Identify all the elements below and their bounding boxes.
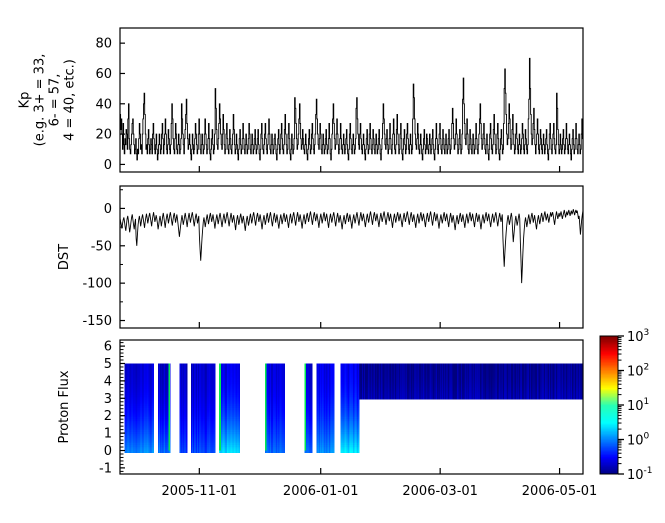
kp-series xyxy=(120,58,583,160)
proton-flux-segment xyxy=(158,363,171,453)
y-tick-label: 40 xyxy=(95,97,112,112)
proton-flux-segment xyxy=(265,363,285,453)
proton-flux-cell xyxy=(152,451,154,454)
y-tick-label: -50 xyxy=(91,239,112,254)
proton-flux-edge xyxy=(219,363,221,450)
kp-axis-label-line: (e.g. 3+ = 33, xyxy=(33,54,48,147)
proton-flux-edge xyxy=(168,363,170,450)
dst-panel-frame xyxy=(120,186,583,328)
dst-series xyxy=(120,209,583,283)
proton-flux-cell xyxy=(238,451,240,454)
y-tick-label: -150 xyxy=(82,314,112,329)
plot-svg: 020406080Kp(e.g. 3+ = 33,6- = 57,4 = 40,… xyxy=(0,0,665,523)
y-tick-label: 20 xyxy=(95,128,112,143)
kp-axis-label-line: 6- = 57, xyxy=(48,74,63,127)
figure-root: 020406080Kp(e.g. 3+ = 33,6- = 57,4 = 40,… xyxy=(0,0,665,523)
y-tick-label: 0 xyxy=(104,158,112,173)
kp-axis-label-line: 4 = 40, etc.) xyxy=(63,59,78,141)
y-tick-label: -100 xyxy=(82,277,112,292)
proton-flux-segment xyxy=(125,363,154,453)
proton-flux-cell xyxy=(186,451,188,454)
proton-flux-segment xyxy=(219,363,240,453)
proton-flux-cell xyxy=(214,451,216,454)
kp-axis-label: Kp(e.g. 3+ = 33,6- = 57,4 = 40, etc.) xyxy=(18,54,78,147)
kp-axis-label-line: Kp xyxy=(18,92,33,109)
proton-flux-segment xyxy=(179,363,187,453)
dst-axis-label: DST xyxy=(57,244,72,270)
y-tick-label: 80 xyxy=(95,37,112,52)
y-tick-label: 0 xyxy=(104,202,112,217)
y-tick-label: 60 xyxy=(95,67,112,82)
proton-flux-cell xyxy=(169,451,171,454)
proton-flux-segment xyxy=(191,363,216,453)
